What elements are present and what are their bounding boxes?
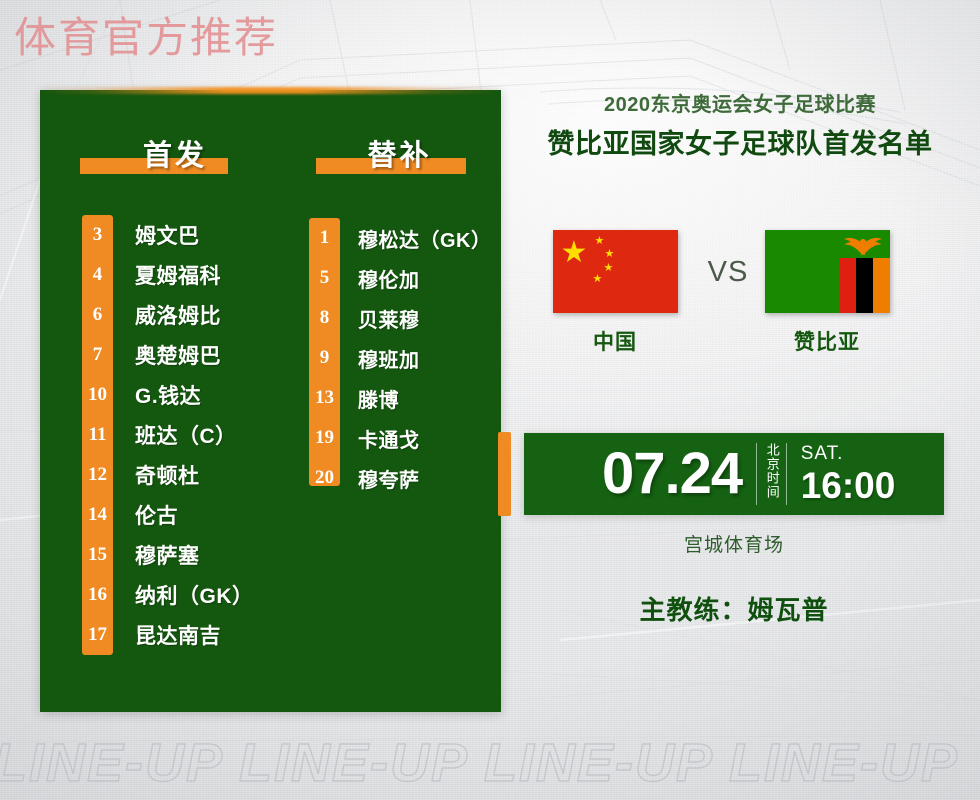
lineup-watermark: LINE-UP LINE-UP LINE-UP LINE-UP <box>0 732 980 794</box>
player-row: 12奇顿杜 <box>40 455 294 495</box>
player-row: 14伦古 <box>40 495 294 535</box>
player-row: 19卡通戈 <box>294 418 501 458</box>
player-number: 1 <box>309 227 340 249</box>
player-number: 19 <box>309 427 340 449</box>
player-name: 奥楚姆巴 <box>135 340 221 370</box>
player-row: 9穆班加 <box>294 338 501 378</box>
player-row: 5穆伦加 <box>294 258 501 298</box>
player-name: 穆班加 <box>358 344 420 373</box>
stripe-black <box>856 258 873 313</box>
flag-star-small-2: ★ <box>605 249 615 260</box>
event-subtitle: 2020东京奥运会女子足球比赛 <box>510 88 970 117</box>
schedule-bar: 07.24 北京时间 SAT. 16:00 <box>524 433 944 515</box>
player-number: 17 <box>82 624 113 646</box>
player-number: 8 <box>309 307 340 329</box>
player-number: 10 <box>82 384 113 406</box>
china-flag: ★ ★ ★ ★ ★ <box>553 230 678 313</box>
player-number: 6 <box>82 304 113 326</box>
player-name: 穆松达（GK） <box>358 224 492 253</box>
player-number: 5 <box>309 267 340 289</box>
player-row: 13滕博 <box>294 378 501 418</box>
player-number: 9 <box>309 347 340 369</box>
player-row: 3姆文巴 <box>40 215 294 255</box>
matchup-block: ★ ★ ★ ★ ★ 中国 VS 赞比亚 <box>512 230 968 370</box>
player-name: 纳利（GK） <box>135 580 254 610</box>
player-number: 12 <box>82 464 113 486</box>
away-team-name: 赞比亚 <box>762 326 892 356</box>
flag-star-small-4: ★ <box>593 274 603 285</box>
player-name: 贝莱穆 <box>358 304 420 333</box>
player-row: 11班达（C） <box>40 415 294 455</box>
home-team-name: 中国 <box>550 326 680 356</box>
player-row: 17昆达南吉 <box>40 615 294 655</box>
stripe-red <box>840 258 857 313</box>
substitutes-heading: 替补 <box>294 132 501 176</box>
home-team: ★ ★ ★ ★ ★ 中国 <box>550 230 680 356</box>
player-name: 卡通戈 <box>358 424 420 453</box>
flag-star-large: ★ <box>561 238 588 268</box>
player-name: 穆伦加 <box>358 264 420 293</box>
player-number: 14 <box>82 504 113 526</box>
player-number: 16 <box>82 584 113 606</box>
player-number: 11 <box>82 424 113 446</box>
player-row: 15穆萨塞 <box>40 535 294 575</box>
flag-star-small-1: ★ <box>595 236 605 247</box>
starting-heading: 首发 <box>40 132 294 176</box>
player-row: 6威洛姆比 <box>40 295 294 335</box>
player-name: 奇顿杜 <box>135 460 200 490</box>
brand-watermark: 体育官方推荐 <box>14 4 278 65</box>
player-name: 滕博 <box>358 384 399 413</box>
kickoff-time: 16:00 <box>801 467 896 504</box>
substitutes-player-rows: 1穆松达（GK）5穆伦加8贝莱穆9穆班加13滕博19卡通戈20穆夸萨 <box>294 218 501 498</box>
player-name: 威洛姆比 <box>135 300 221 330</box>
player-name: G.钱达 <box>135 380 201 410</box>
kickoff-block: SAT. 16:00 <box>801 444 896 504</box>
starting-player-rows: 3姆文巴4夏姆福科6威洛姆比7奥楚姆巴10G.钱达11班达（C）12奇顿杜14伦… <box>40 215 294 655</box>
substitutes-column: 替补 1穆松达（GK）5穆伦加8贝莱穆9穆班加13滕博19卡通戈20穆夸萨 <box>294 90 501 712</box>
head-coach: 主教练：姆瓦普 <box>524 590 944 627</box>
player-number: 3 <box>82 224 113 246</box>
substitutes-heading-label: 替补 <box>294 132 501 174</box>
player-name: 夏姆福科 <box>135 260 221 290</box>
starting-lineup-column: 首发 3姆文巴4夏姆福科6威洛姆比7奥楚姆巴10G.钱达11班达（C）12奇顿杜… <box>40 90 294 712</box>
zambia-flag-stripes <box>840 258 890 313</box>
match-date: 07.24 <box>602 445 742 503</box>
day-of-week: SAT. <box>801 444 896 463</box>
player-name: 伦古 <box>135 500 178 530</box>
player-row: 8贝莱穆 <box>294 298 501 338</box>
versus-label: VS <box>698 256 758 289</box>
venue-name: 宫城体育场 <box>524 530 944 557</box>
headline-block: 2020东京奥运会女子足球比赛 赞比亚国家女子足球队首发名单 <box>510 88 970 161</box>
player-row: 16纳利（GK） <box>40 575 294 615</box>
player-number: 7 <box>82 344 113 366</box>
player-name: 姆文巴 <box>135 220 200 250</box>
player-number: 20 <box>309 467 340 489</box>
player-row: 4夏姆福科 <box>40 255 294 295</box>
player-number: 15 <box>82 544 113 566</box>
player-number: 13 <box>309 387 340 409</box>
timezone-label: 北京时间 <box>756 443 787 505</box>
roster-panel: 首发 3姆文巴4夏姆福科6威洛姆比7奥楚姆巴10G.钱达11班达（C）12奇顿杜… <box>40 90 501 712</box>
lineup-graphic: 体育官方推荐 首发 3姆文巴4夏姆福科6威洛姆比7奥楚姆巴10G.钱达11班达（… <box>0 0 980 800</box>
flag-star-small-3: ★ <box>604 263 614 274</box>
player-row: 10G.钱达 <box>40 375 294 415</box>
zambia-flag <box>765 230 890 313</box>
player-name: 穆萨塞 <box>135 540 200 570</box>
player-row: 1穆松达（GK） <box>294 218 501 258</box>
player-name: 昆达南吉 <box>135 620 221 650</box>
away-team: 赞比亚 <box>762 230 892 356</box>
date-accent-bar <box>498 432 511 516</box>
starting-heading-label: 首发 <box>40 132 294 174</box>
player-name: 班达（C） <box>135 420 237 450</box>
player-row: 20穆夸萨 <box>294 458 501 498</box>
page-title: 赞比亚国家女子足球队首发名单 <box>510 122 970 161</box>
player-number: 4 <box>82 264 113 286</box>
stripe-orange <box>873 258 890 313</box>
player-name: 穆夸萨 <box>358 464 420 493</box>
eagle-icon <box>843 236 883 257</box>
player-row: 7奥楚姆巴 <box>40 335 294 375</box>
